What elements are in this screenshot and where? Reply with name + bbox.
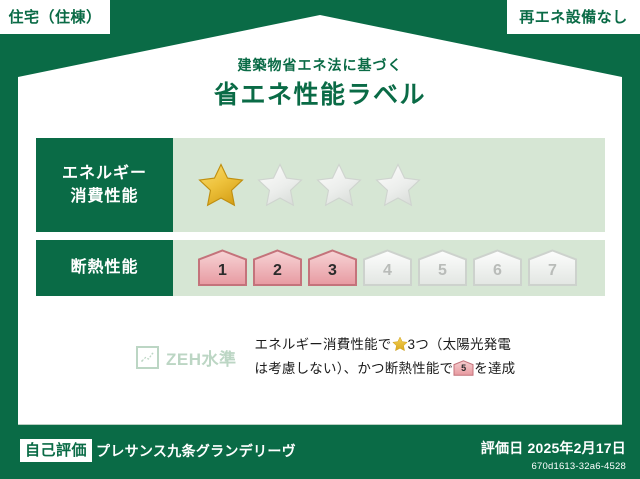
energy-performance-row: エネルギー 消費性能 — [36, 138, 605, 232]
insulation-performance-label: 断熱性能 — [36, 240, 173, 296]
energy-performance-label: エネルギー 消費性能 — [36, 138, 173, 232]
zeh-desc-part1: エネルギー消費性能で — [255, 337, 392, 352]
insulation-grade-inactive: 5 — [417, 249, 468, 287]
zeh-chart-icon — [136, 346, 159, 369]
footer-left-group: 自己評価 プレサンス九条グランデリーヴ — [20, 439, 296, 462]
energy-label-line2: 消費性能 — [62, 185, 147, 208]
page-title: 建築物省エネ法に基づく 省エネ性能ラベル — [0, 57, 640, 111]
energy-performance-value — [173, 138, 605, 232]
zeh-desc-part2: は考慮しない）、かつ断熱性能で — [255, 361, 454, 376]
title-subtitle: 建築物省エネ法に基づく — [0, 57, 640, 74]
star-empty-icon — [315, 162, 363, 208]
footer-right-group: 評価日 2025年2月17日 670d1613-32a6-4528 — [481, 438, 626, 472]
insulation-grade-active: 2 — [252, 249, 303, 287]
zeh-desc-part3: を達成 — [474, 361, 515, 376]
tab-building-type-label: 住宅（住棟） — [8, 10, 101, 25]
inline-grade-badge-value: 5 — [453, 360, 474, 376]
insulation-grade-active: 3 — [307, 249, 358, 287]
star-rating — [197, 162, 422, 208]
insulation-grade-value: 4 — [362, 249, 413, 287]
insulation-grade-value: 2 — [252, 249, 303, 287]
footer: 自己評価 プレサンス九条グランデリーヴ 評価日 2025年2月17日 670d1… — [0, 425, 640, 479]
energy-label-line1: エネルギー — [62, 162, 147, 185]
tab-renewable-energy: 再エネ設備なし — [507, 0, 640, 34]
inline-grade-badge: 5 — [453, 360, 474, 376]
inline-star-icon — [392, 336, 408, 352]
self-evaluation-badge: 自己評価 — [20, 439, 92, 462]
evaluation-date: 評価日 2025年2月17日 — [481, 438, 626, 458]
insulation-grade-inactive: 4 — [362, 249, 413, 287]
insulation-grade-value: 3 — [307, 249, 358, 287]
star-filled-icon — [197, 162, 245, 208]
insulation-grade-active: 1 — [197, 249, 248, 287]
insulation-grade-inactive: 7 — [527, 249, 578, 287]
evaluation-id: 670d1613-32a6-4528 — [481, 461, 626, 472]
star-empty-icon — [256, 162, 304, 208]
zeh-description: エネルギー消費性能で 3つ（太陽光発電 は考慮しない）、かつ断熱性能で — [255, 333, 516, 380]
energy-performance-label: 住宅（住棟） 再エネ設備なし 建築物省エネ法に基づく 省エネ性能ラベル エネルギ… — [0, 0, 640, 479]
insulation-grade-value: 7 — [527, 249, 578, 287]
zeh-desc-star-count: 3つ（太陽光発電 — [408, 337, 512, 352]
building-name: プレサンス九条グランデリーヴ — [96, 441, 296, 461]
title-main: 省エネ性能ラベル — [0, 79, 640, 112]
insulation-performance-value: 1234567 — [173, 240, 605, 296]
insulation-grade-inactive: 6 — [472, 249, 523, 287]
tab-renewable-energy-label: 再エネ設備なし — [519, 10, 628, 25]
tab-building-type: 住宅（住棟） — [0, 0, 110, 34]
insulation-grade-value: 6 — [472, 249, 523, 287]
insulation-grade-value: 1 — [197, 249, 248, 287]
insulation-grade-value: 5 — [417, 249, 468, 287]
insulation-label-text: 断熱性能 — [70, 256, 138, 279]
insulation-performance-row: 断熱性能 1234567 — [36, 240, 605, 296]
zeh-name-label: ZEH水準 — [166, 345, 237, 370]
star-empty-icon — [374, 162, 422, 208]
zeh-section: ZEH水準 エネルギー消費性能で 3つ（太陽光発電 は考慮しない）、かつ断熱性能… — [36, 333, 605, 380]
insulation-grade-scale: 1234567 — [197, 249, 578, 287]
zeh-mark: ZEH水準 — [136, 333, 237, 370]
